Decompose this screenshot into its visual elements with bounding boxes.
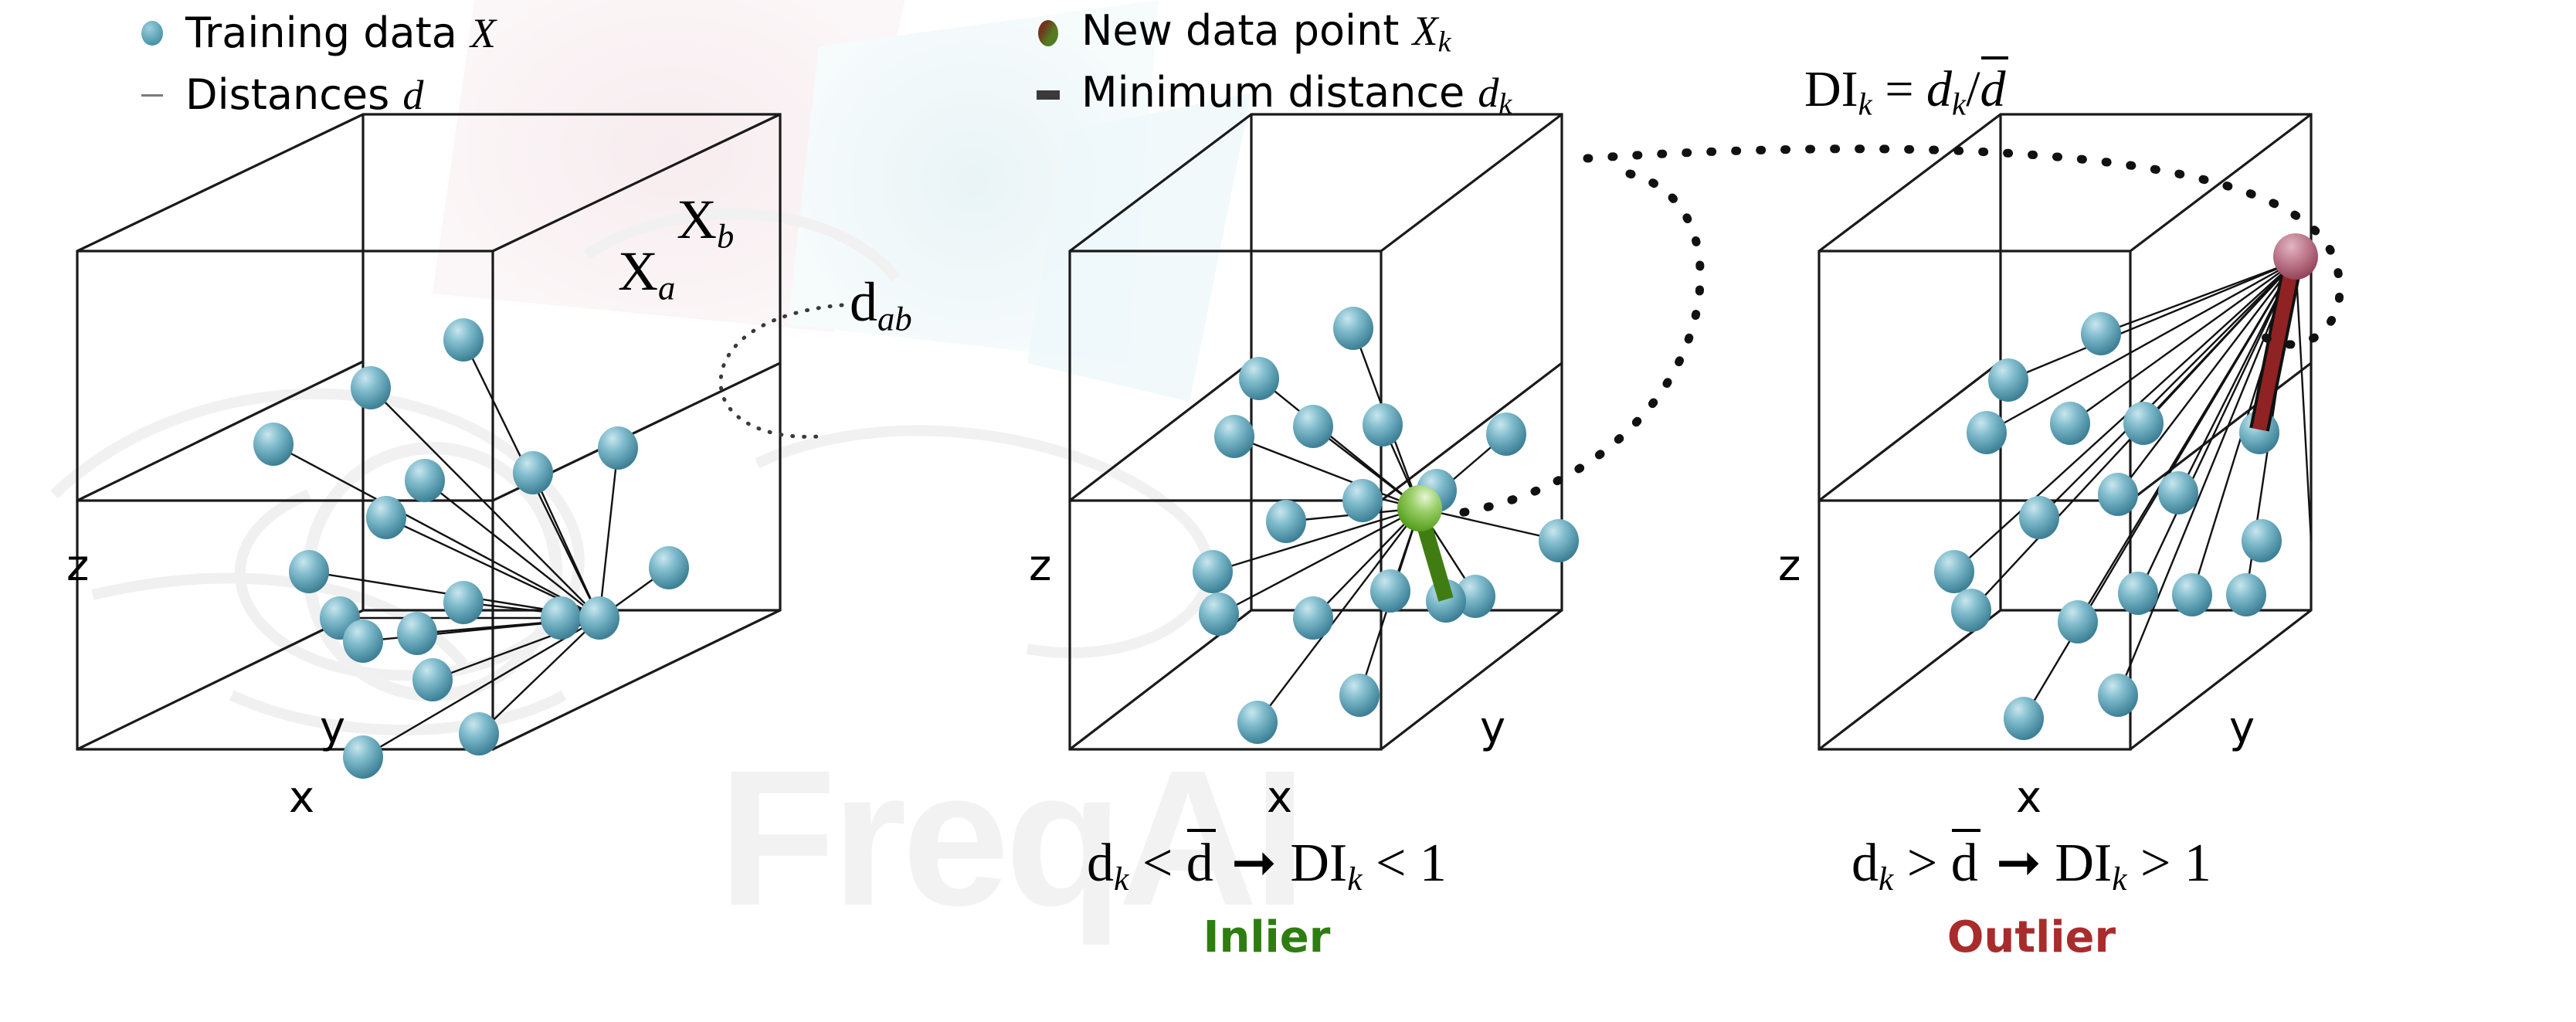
axis-label-z-training: z bbox=[66, 541, 89, 591]
inlier-tag: Inlier bbox=[958, 912, 1576, 963]
panel-inlier bbox=[1070, 114, 1579, 749]
annotation-curve-dik bbox=[1441, 174, 1700, 516]
label-dab: dab bbox=[850, 270, 912, 338]
label-xa: Xa bbox=[618, 239, 675, 307]
cube-wireframe-training bbox=[77, 114, 780, 749]
outlier-tag: Outlier bbox=[1722, 912, 2340, 963]
axis-label-x-outlier: x bbox=[2016, 772, 2041, 823]
inlier-expression: dk < d ➞ DIk < 1 bbox=[958, 830, 1576, 898]
data-points-outlier bbox=[1934, 312, 2282, 740]
label-xb: Xb bbox=[677, 188, 734, 256]
caption-outlier: dk > d ➞ DIk > 1 Outlier bbox=[1722, 830, 2340, 963]
data-points-training bbox=[253, 318, 689, 779]
distance-lines-training bbox=[273, 340, 669, 757]
outlier-expression: dk > d ➞ DIk > 1 bbox=[1722, 830, 2340, 898]
axis-label-z-outlier: z bbox=[1778, 541, 1800, 591]
focus-point-xk-inlier bbox=[1397, 485, 1442, 531]
caption-inlier: dk < d ➞ DIk < 1 Inlier bbox=[958, 830, 1576, 963]
axis-label-y-outlier: y bbox=[2229, 703, 2255, 753]
axis-label-z-inlier: z bbox=[1029, 541, 1051, 591]
axis-label-x-training: x bbox=[289, 772, 314, 823]
panel-outlier bbox=[1819, 114, 2318, 749]
axis-label-x-inlier: x bbox=[1267, 772, 1292, 823]
focus-point-xa bbox=[579, 596, 619, 640]
axis-label-y-inlier: y bbox=[1480, 703, 1505, 753]
axis-label-y-training: y bbox=[320, 703, 345, 753]
